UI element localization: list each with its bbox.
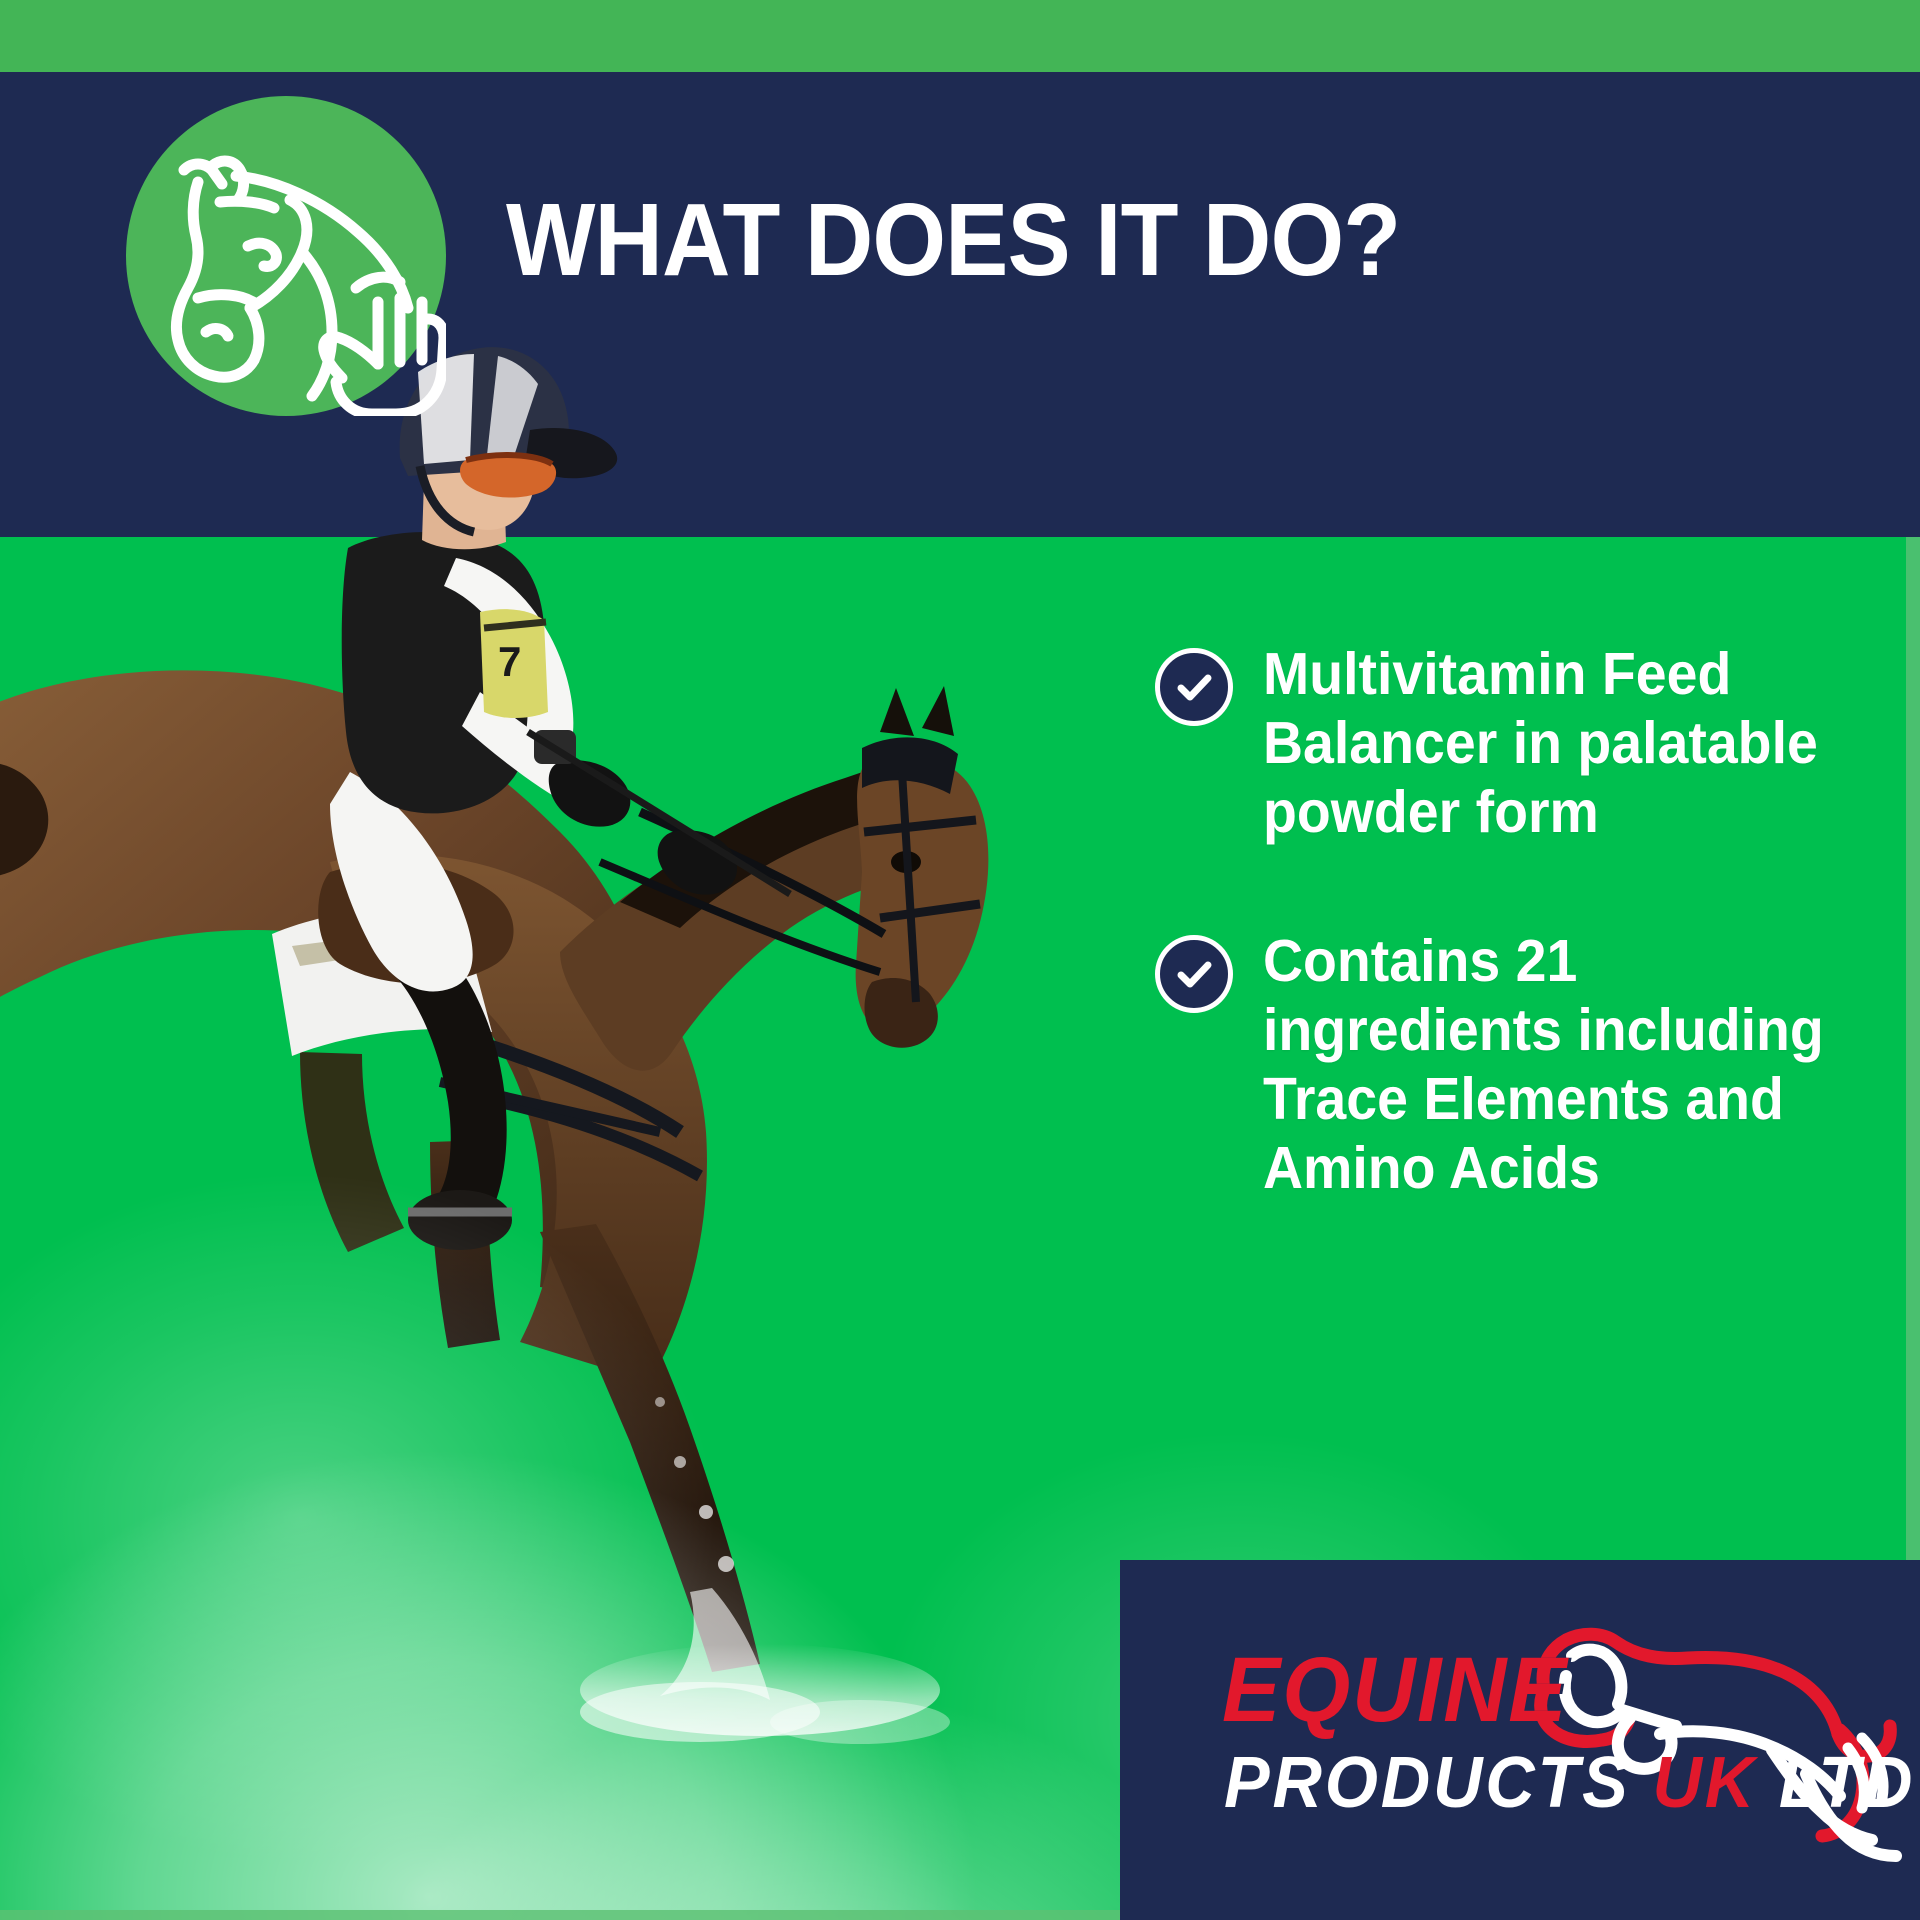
logo-ltd-text: LTD [1757,1743,1915,1823]
benefit-text-2: Contains 21 ingredients including Trace … [1263,927,1876,1203]
list-item: Contains 21 ingredients including Trace … [1155,927,1915,1203]
infographic-canvas: 7 [0,0,1920,1920]
list-item: Multivitamin Feed Balancer in palatable … [1155,640,1915,847]
logo-wordmark-subline: PRODUCTS UK LTD [1224,1742,1915,1824]
top-accent-band [0,0,1920,72]
horse-head-with-hand-icon [126,96,446,416]
check-circle-icon [1155,935,1233,1013]
benefit-text-1: Multivitamin Feed Balancer in palatable … [1263,640,1876,847]
logo-products-text: PRODUCTS [1224,1743,1652,1823]
page-title: WHAT DOES IT DO? [506,188,1426,291]
brand-logo-panel: EQUINE PRODUCTS UK LTD [1120,1560,1920,1920]
benefits-list: Multivitamin Feed Balancer in palatable … [1155,640,1915,1283]
logo-wordmark-equine: EQUINE [1222,1638,1568,1743]
check-circle-icon [1155,648,1233,726]
logo-uk-text: UK [1652,1743,1757,1823]
